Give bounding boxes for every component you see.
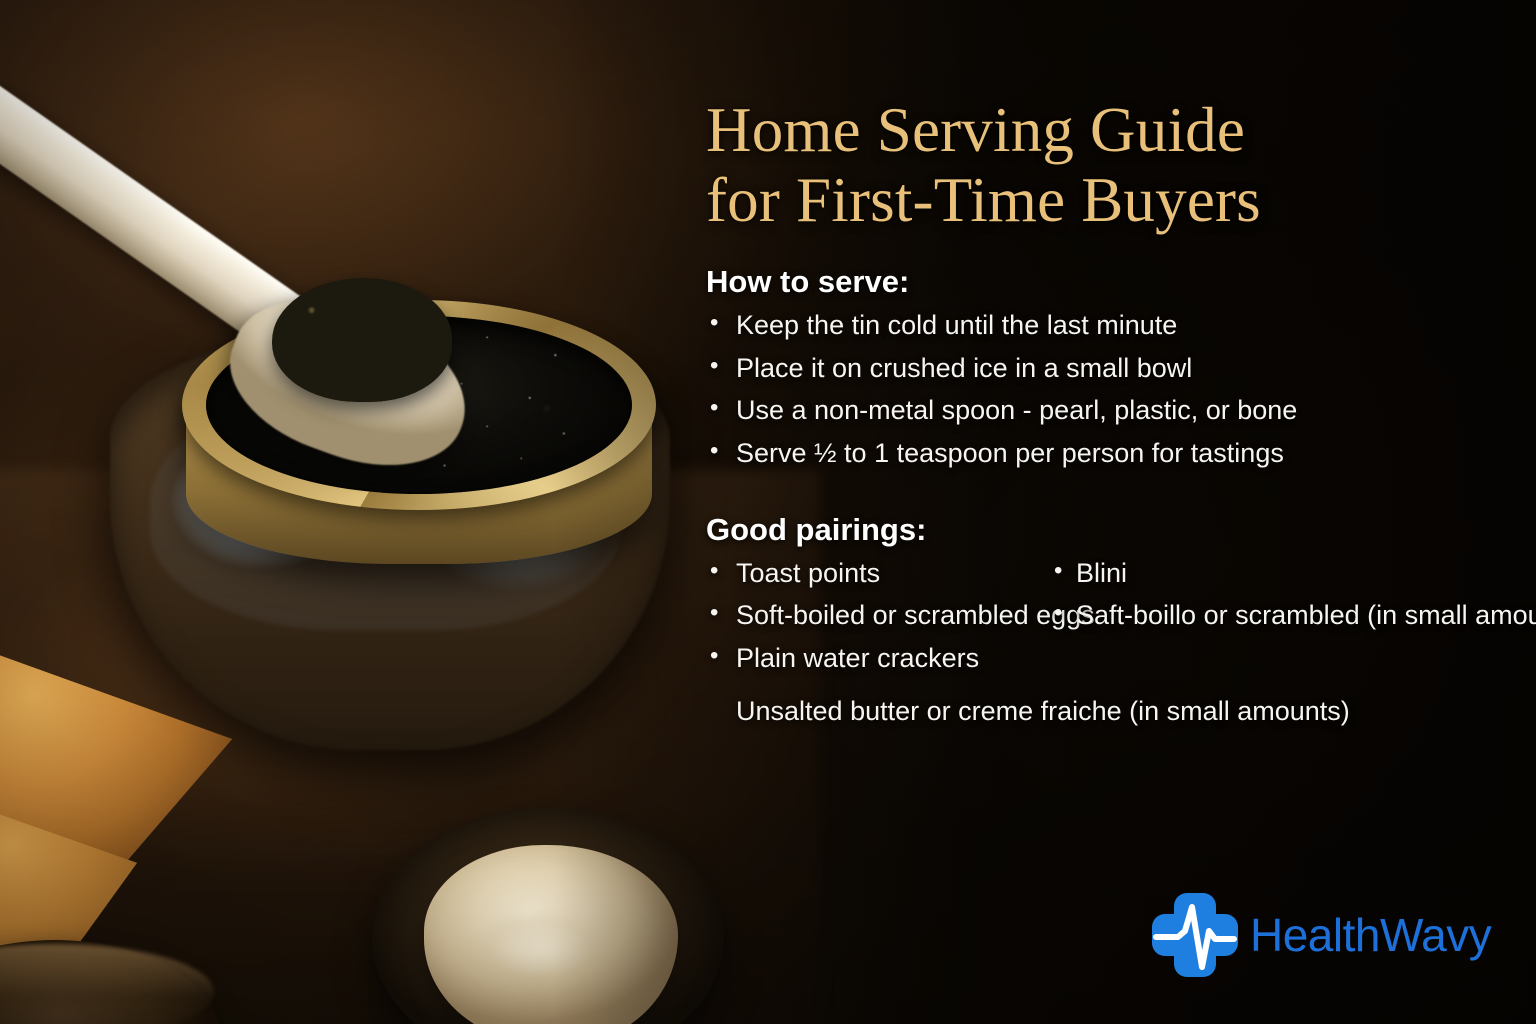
poster-root: Home Serving Guide for First-Time Buyers… [0, 0, 1536, 1024]
brand-logo[interactable]: HealthWavy [1152, 893, 1491, 977]
good-pairings-heading: Good pairings: [706, 512, 1466, 548]
brand-name: HealthWavy [1250, 912, 1491, 958]
medical-cross-heartbeat-icon [1152, 893, 1238, 977]
title-line-2: for First-Time Buyers [706, 166, 1466, 236]
list-item: Blini [1050, 554, 1450, 594]
list-item: Use a non-metal spoon - pearl, plastic, … [706, 391, 1466, 431]
list-item: Place it on crushed ice in a small bowl [706, 349, 1466, 389]
page-title: Home Serving Guide for First-Time Buyers [706, 96, 1466, 236]
pairings-column-right: Blini Saft-boillo or scrambled (in small… [1050, 554, 1450, 682]
content-column: Home Serving Guide for First-Time Buyers… [706, 96, 1466, 731]
list-item: Soft-boiled or scrambled eggs [706, 596, 1050, 636]
how-to-serve-heading: How to serve: [706, 264, 1466, 300]
list-item: Keep the tin cold until the last minute [706, 306, 1466, 346]
creme-fraiche-swirl [452, 900, 628, 1000]
list-item: Saft-boillo or scrambled (in small amoun… [1050, 596, 1450, 636]
title-line-1: Home Serving Guide [706, 95, 1245, 165]
pairings-columns: Toast points Soft-boiled or scrambled eg… [706, 554, 1466, 682]
pairings-column-left: Toast points Soft-boiled or scrambled eg… [706, 554, 1050, 682]
heartbeat-wave-icon [1152, 893, 1238, 977]
list-item: Toast points [706, 554, 1050, 594]
caviar-heap-on-spoon [272, 278, 452, 402]
list-item: Plain water crackers [706, 639, 1050, 679]
pairings-footnote: Unsalted butter or creme fraiche (in sma… [706, 692, 1466, 731]
list-item: Serve ½ to 1 teaspoon per person for tas… [706, 434, 1466, 474]
how-to-serve-list: Keep the tin cold until the last minute … [706, 306, 1466, 474]
